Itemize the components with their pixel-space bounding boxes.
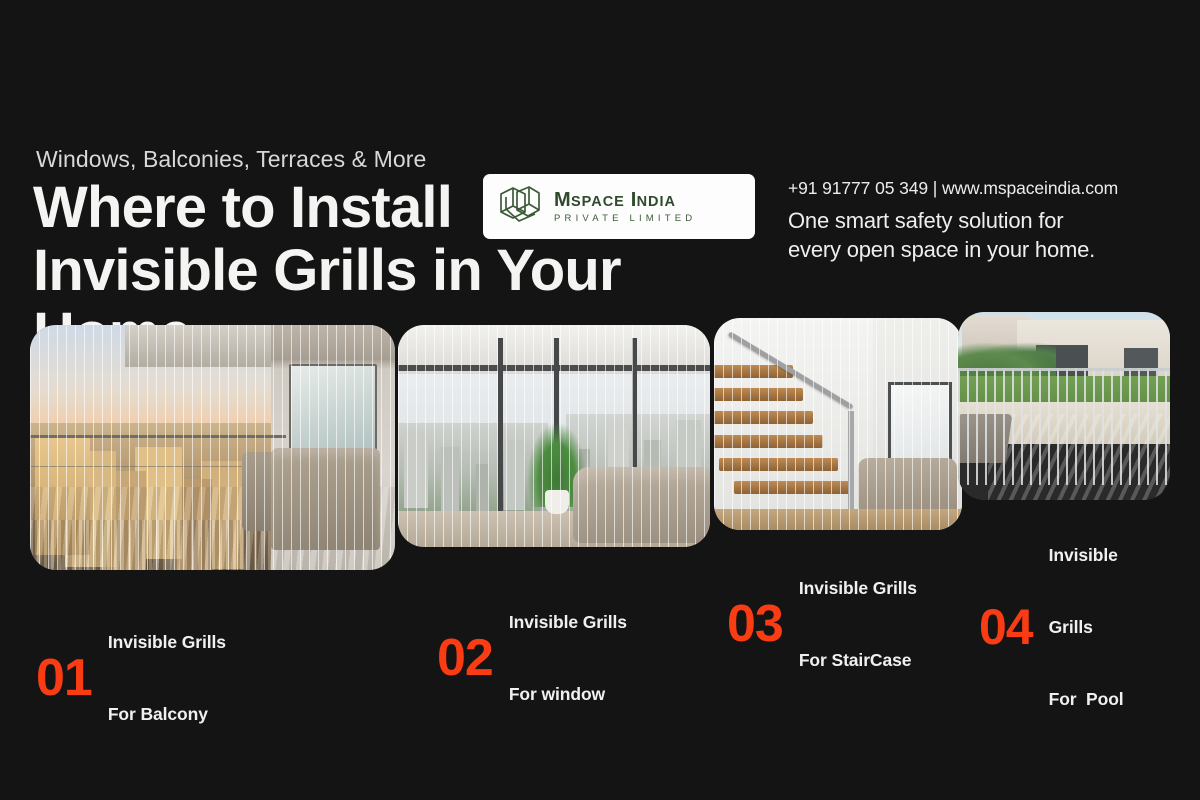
caption-label: Invisible Grills For StairCase [799,528,917,720]
headline-line-1: Where to Install [33,175,452,240]
caption-number: 03 [727,598,783,650]
caption-title: Invisible Grills [108,630,226,654]
caption-subtitle: For window [509,682,627,706]
contact-block: +91 91777 05 349 | www.mspaceindia.com O… [788,178,1168,264]
eyebrow-text: Windows, Balconies, Terraces & More [36,146,426,173]
photo-card-balcony[interactable] [30,325,395,570]
photo-card-window[interactable] [398,325,710,547]
caption-number: 02 [437,632,493,684]
phone-and-website[interactable]: +91 91777 05 349 | www.mspaceindia.com [788,178,1168,199]
caption-label: Invisible Grills For Balcony [108,582,226,774]
tagline-line-1: One smart safety solution for [788,206,1168,235]
window-photo [398,325,710,547]
caption-balcony: 01 Invisible Grills For Balcony [36,582,226,774]
banner-header: Windows, Balconies, Terraces & More Wher… [0,0,1200,310]
caption-title: Invisible [1049,543,1124,567]
caption-label: Invisible Grills For window [509,562,627,754]
caption-label: Invisible Grills For Pool [1049,495,1124,759]
caption-number: 04 [979,601,1033,653]
balcony-photo [30,325,395,570]
photo-card-pool[interactable] [958,312,1170,500]
caption-title-2: Grills [1049,615,1124,639]
caption-staircase: 03 Invisible Grills For StairCase [727,528,917,720]
cube-outline-icon [495,184,545,230]
pool-photo [958,312,1170,500]
staircase-photo [714,318,962,530]
caption-title: Invisible Grills [799,576,917,600]
caption-title: Invisible Grills [509,610,627,634]
caption-subtitle: For Pool [1049,687,1124,711]
caption-pool: 04 Invisible Grills For Pool [979,495,1124,759]
logo-company-name: MSPACE INDIA [554,189,696,213]
company-logo[interactable]: MSPACE INDIA PRIVATE LIMITED [483,174,755,239]
pool-safety-fence [958,368,1170,485]
photo-card-staircase[interactable] [714,318,962,530]
caption-subtitle: For Balcony [108,702,226,726]
logo-subtitle: PRIVATE LIMITED [554,213,696,225]
tagline-line-2: every open space in your home. [788,235,1168,264]
tagline: One smart safety solution for every open… [788,206,1168,264]
caption-subtitle: For StairCase [799,648,917,672]
caption-number: 01 [36,652,92,704]
logo-wordmark: MSPACE INDIA PRIVATE LIMITED [554,189,696,225]
caption-window: 02 Invisible Grills For window [437,562,627,754]
